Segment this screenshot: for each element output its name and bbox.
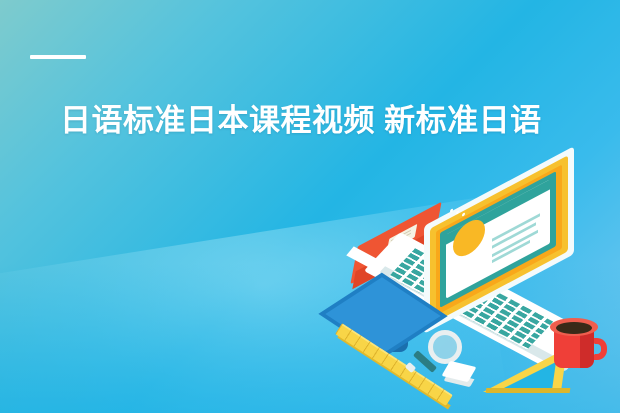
page-title: 日语标准日本课程视频 新标准日语	[60, 101, 580, 141]
triangle-ruler-cutout	[500, 362, 556, 390]
triangle-ruler-edge	[486, 388, 571, 393]
coffee-surface	[556, 322, 592, 334]
elearning-illustration	[336, 182, 620, 413]
accent-bar	[30, 55, 86, 59]
course-banner: 日语标准日本课程视频 新标准日语	[0, 0, 620, 413]
search-icon	[428, 330, 462, 364]
